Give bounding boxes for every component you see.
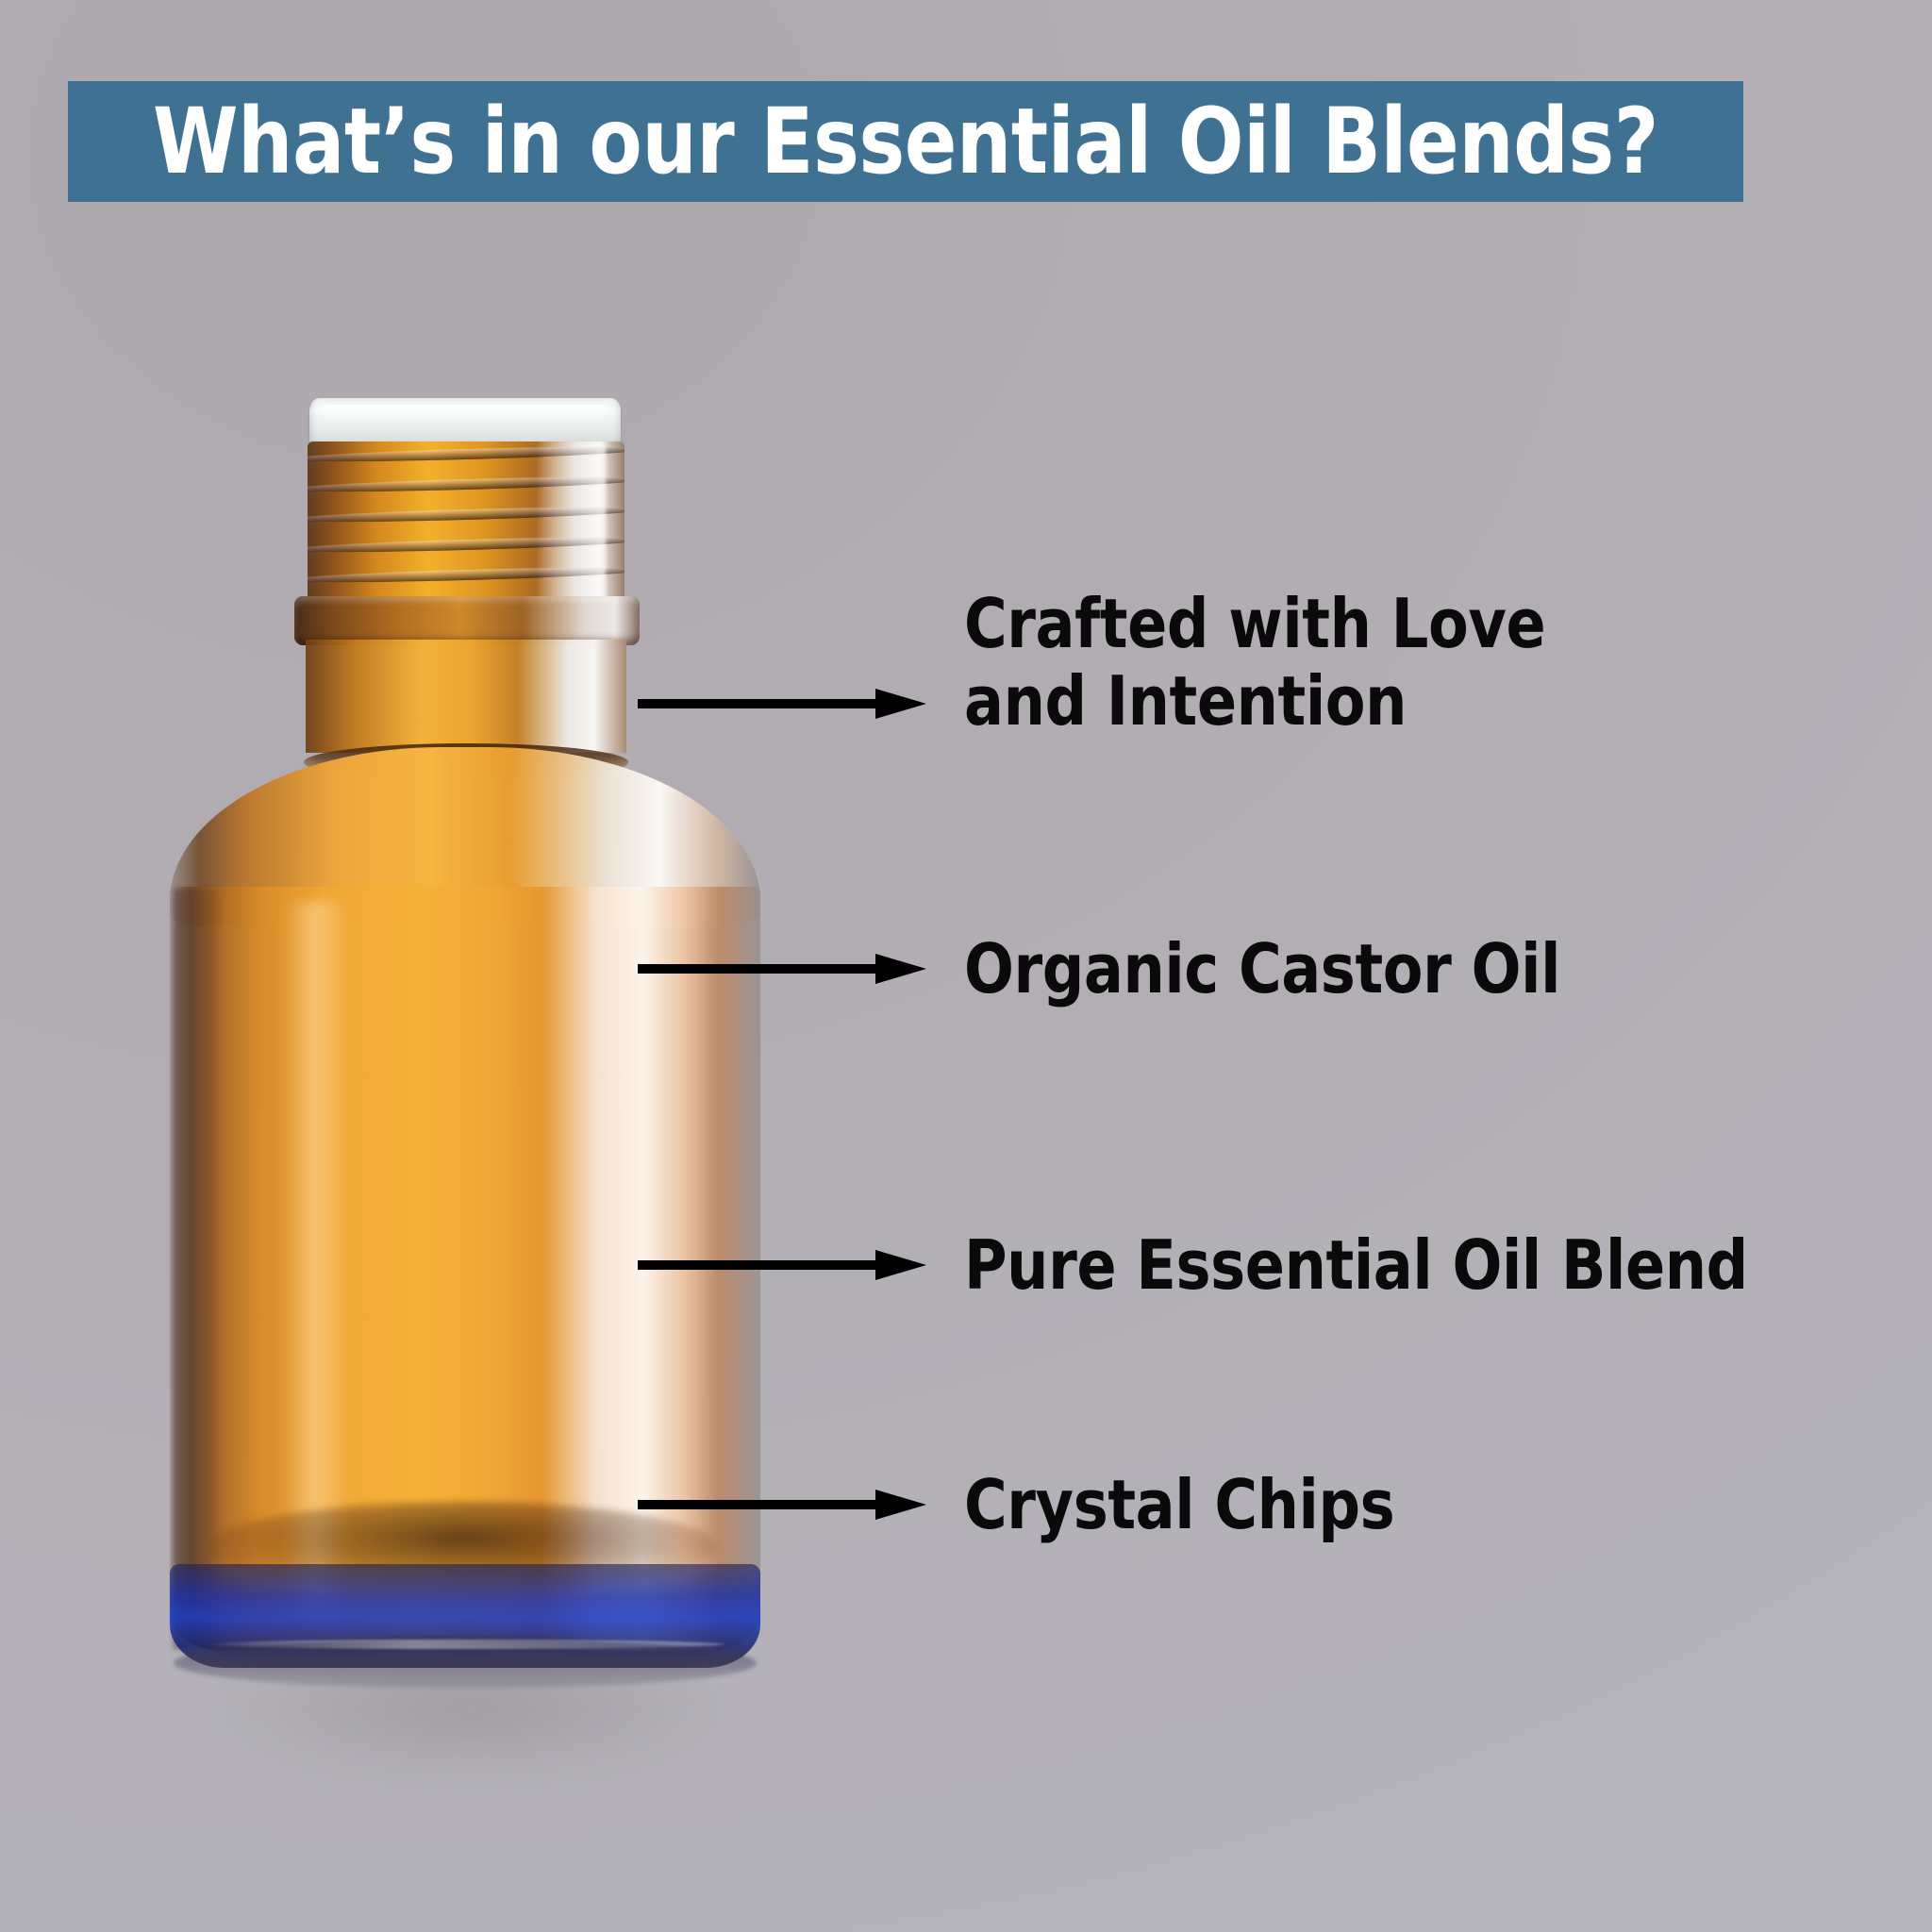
callout-crystal-chips: Crystal Chips xyxy=(638,1466,1412,1543)
bottle-base-rim xyxy=(174,1638,757,1689)
arrow-right-icon xyxy=(638,1486,930,1524)
bottle-collar xyxy=(294,596,640,645)
neck-highlight xyxy=(536,441,606,602)
callout-organic-castor-oil: Organic Castor Oil xyxy=(638,930,1585,1008)
arrow-right-icon xyxy=(638,950,930,988)
bottle-threaded-neck xyxy=(308,441,625,602)
title-banner: What’s in our Essential Oil Blends? xyxy=(68,81,1743,202)
callout-label: Crystal Chips xyxy=(964,1466,1394,1543)
infographic-canvas: What’s in our Essential Oil Blends? xyxy=(0,0,1932,1932)
page-title: What’s in our Essential Oil Blends? xyxy=(153,96,1658,187)
callout-label: Crafted with Love and Intention xyxy=(964,585,1545,740)
bottle-lower-neck xyxy=(306,640,626,753)
callout-label: Pure Essential Oil Blend xyxy=(964,1226,1748,1304)
callout-crafted-with-love-and-intention: Crafted with Love and Intention xyxy=(638,585,1570,740)
callout-pure-essential-oil-blend: Pure Essential Oil Blend xyxy=(638,1226,1780,1304)
arrow-right-icon xyxy=(638,1246,930,1284)
callout-label: Organic Castor Oil xyxy=(964,930,1560,1008)
arrow-right-icon xyxy=(638,685,930,723)
bottle-left-edge-shading xyxy=(174,889,219,1649)
